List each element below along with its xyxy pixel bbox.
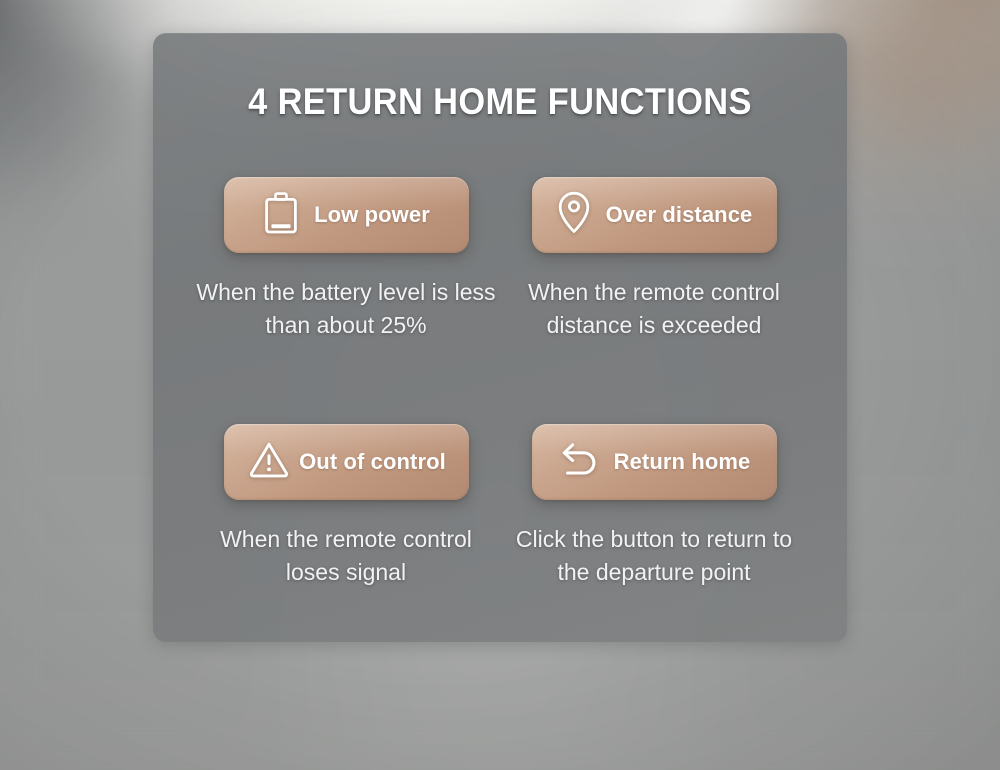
info-panel: 4 RETURN HOME FUNCTIONS Low power When t… bbox=[153, 33, 847, 642]
location-pin-icon bbox=[556, 190, 592, 240]
function-card-low-power: Low power When the battery level is less… bbox=[193, 177, 499, 342]
out-of-control-button[interactable]: Out of control bbox=[224, 424, 469, 500]
low-power-caption: When the battery level is less than abou… bbox=[196, 276, 496, 342]
low-power-label: Low power bbox=[314, 202, 430, 228]
function-card-out-of-control: Out of control When the remote control l… bbox=[193, 424, 499, 589]
return-arrow-icon bbox=[558, 440, 600, 485]
functions-grid: Low power When the battery level is less… bbox=[193, 177, 807, 589]
return-home-label: Return home bbox=[614, 449, 751, 475]
warning-triangle-icon bbox=[246, 439, 292, 486]
out-of-control-caption: When the remote control loses signal bbox=[212, 523, 480, 589]
return-home-button[interactable]: Return home bbox=[532, 424, 777, 500]
return-home-caption: Click the button to return to the depart… bbox=[504, 523, 804, 589]
battery-low-icon bbox=[262, 191, 300, 240]
over-distance-button[interactable]: Over distance bbox=[532, 177, 777, 253]
function-card-return-home: Return home Click the button to return t… bbox=[501, 424, 807, 589]
over-distance-caption: When the remote control distance is exce… bbox=[504, 276, 804, 342]
low-power-button[interactable]: Low power bbox=[224, 177, 469, 253]
page-title: 4 RETURN HOME FUNCTIONS bbox=[177, 83, 822, 120]
out-of-control-label: Out of control bbox=[299, 449, 446, 475]
over-distance-label: Over distance bbox=[606, 202, 753, 228]
function-card-over-distance: Over distance When the remote control di… bbox=[501, 177, 807, 342]
